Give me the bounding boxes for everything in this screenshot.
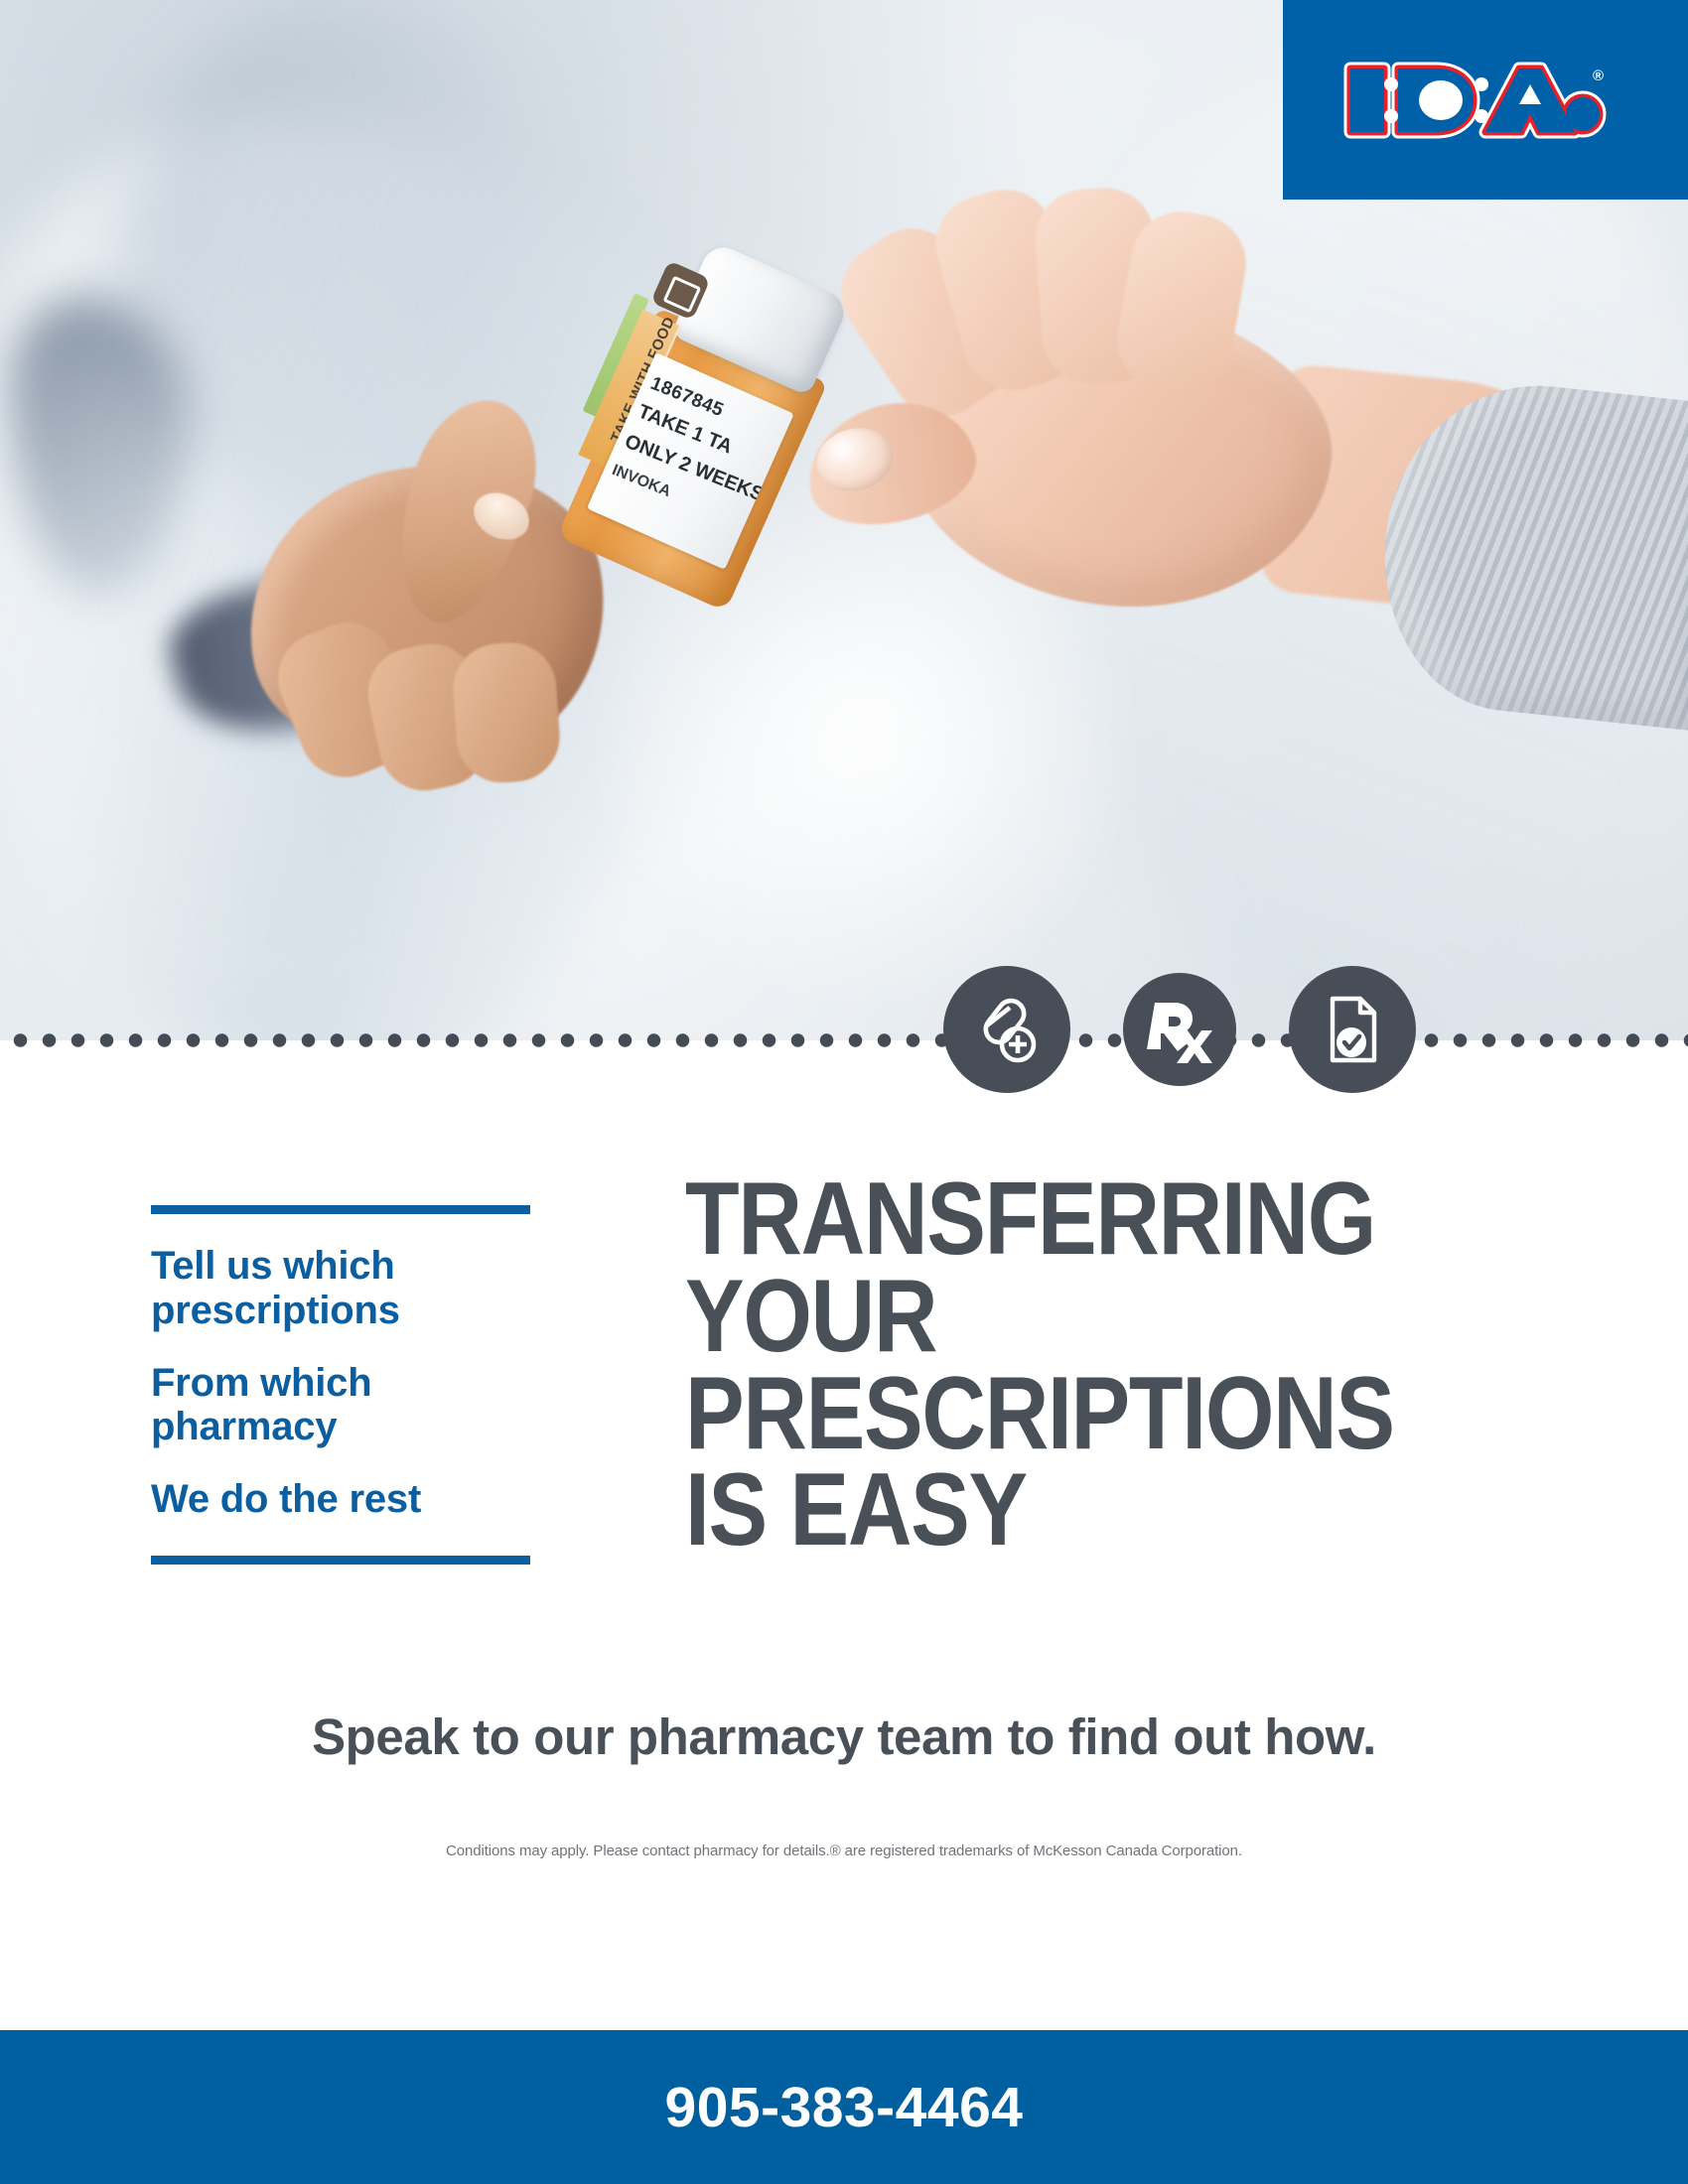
- headline-line-3: PRESCRIPTIONS: [685, 1366, 1454, 1463]
- phone-number[interactable]: 905-383-4464: [665, 2075, 1024, 2140]
- step-item-3: We do the rest: [151, 1477, 530, 1522]
- step-item-2: From which pharmacy: [151, 1361, 530, 1450]
- page-title: TRANSFERRING YOUR PRESCRIPTIONS IS EASY: [685, 1171, 1454, 1560]
- tagline: Speak to our pharmacy team to find out h…: [0, 1707, 1688, 1766]
- pharmacist-finger: [450, 640, 563, 786]
- headline-line-2: YOUR: [685, 1269, 1454, 1366]
- rx-icon: [1123, 973, 1236, 1086]
- rx-glyph: [1147, 995, 1212, 1064]
- document-check-glyph: [1319, 994, 1386, 1065]
- steps-rule-bottom: [151, 1556, 530, 1565]
- headline-line-4: IS EASY: [685, 1462, 1454, 1560]
- document-check-icon: [1289, 966, 1416, 1093]
- steps-rule-top: [151, 1205, 530, 1214]
- steps-column: Tell us which prescriptions From which p…: [151, 1205, 530, 1565]
- pills-plus-glyph: [970, 993, 1044, 1066]
- steps-list: Tell us which prescriptions From which p…: [151, 1244, 530, 1522]
- pills-plus-icon: [943, 966, 1070, 1093]
- footer-bar: 905-383-4464: [0, 2030, 1688, 2184]
- step-item-1: Tell us which prescriptions: [151, 1244, 530, 1333]
- ida-logo-mark: ®: [1336, 49, 1634, 152]
- content-area: Tell us which prescriptions From which p…: [0, 1040, 1688, 2184]
- headline-line-1: TRANSFERRING: [685, 1171, 1454, 1269]
- ida-logo: ®: [1283, 0, 1688, 200]
- svg-text:®: ®: [1593, 68, 1604, 84]
- customer-hand: [755, 169, 1450, 685]
- disclaimer-text: Conditions may apply. Please contact pha…: [0, 1843, 1688, 1859]
- service-icon-row: [943, 955, 1499, 1104]
